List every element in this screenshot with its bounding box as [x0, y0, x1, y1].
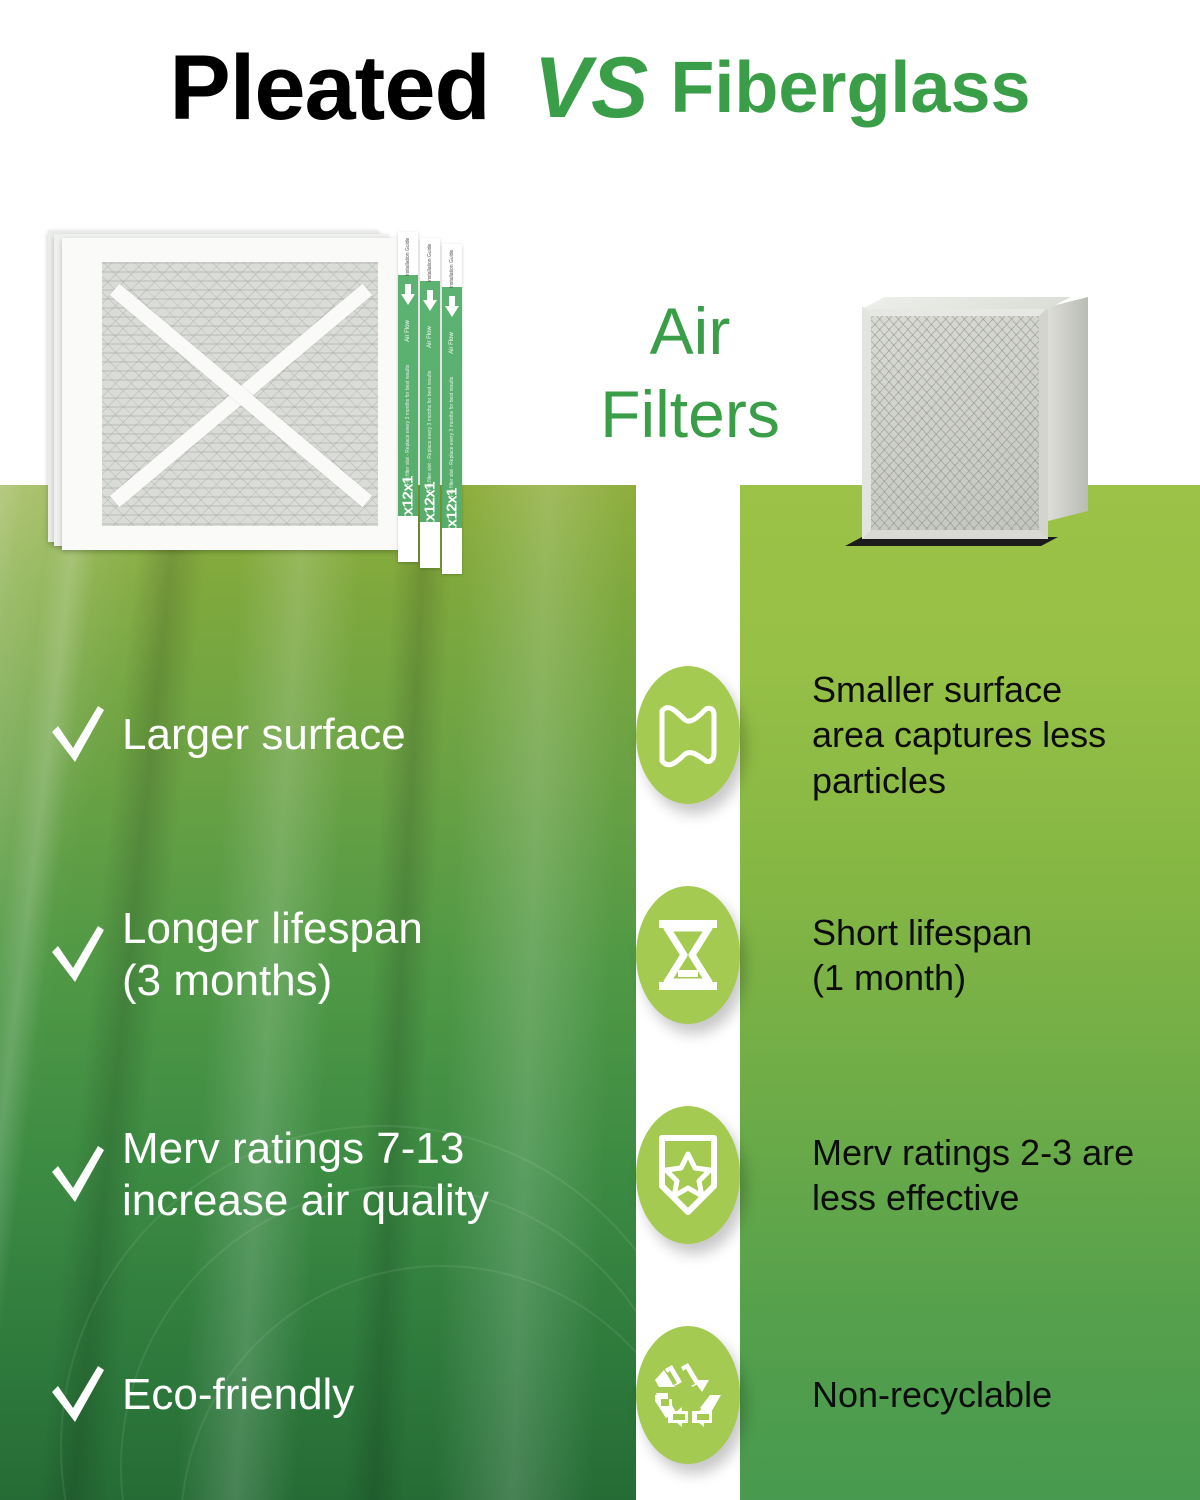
strip-install-label-3: Installation Guide: [449, 250, 455, 289]
airflow-arrow-icon-2: [423, 300, 437, 311]
row-right-line1: Non-recyclable: [812, 1374, 1052, 1415]
row-left-side: Longer lifespan (3 months): [0, 903, 636, 1007]
row-left-line1: Larger surface: [122, 710, 406, 759]
center-heading-line2: Filters: [520, 373, 860, 456]
row-right-side: Smaller surface area captures less parti…: [740, 667, 1200, 803]
page-header: Pleated VS Fiberglass: [0, 0, 1200, 175]
row-right-text: Non-recyclable: [812, 1372, 1200, 1417]
icon-circle: [636, 666, 740, 804]
check-icon: [48, 704, 106, 766]
row-icon-wrap: [636, 1106, 740, 1244]
strip-airflow-label-3: Air Flow: [449, 332, 455, 354]
row-left-line1: Eco-friendly: [122, 1370, 354, 1419]
row-icon-wrap: [636, 1326, 740, 1464]
row-left-line1: Longer lifespan: [122, 904, 423, 953]
center-heading: Air Filters: [520, 290, 860, 455]
strip-airflow-label-1: Air Flow: [405, 320, 411, 342]
row-right-line1: Smaller surface: [812, 669, 1062, 710]
strip-desc-label-2: Fits filter slot - Replace every 3 month…: [427, 371, 433, 492]
check-icon: [48, 1364, 106, 1426]
row-left-line2: (3 months): [122, 955, 423, 1007]
strip-airflow-label-2: Air Flow: [427, 326, 433, 348]
row-right-line2: area captures less: [812, 712, 1200, 757]
comparison-row: Eco-friendly: [0, 1285, 1200, 1500]
row-left-side: Eco-friendly: [0, 1364, 636, 1426]
row-icon-wrap: [636, 666, 740, 804]
title-fiberglass: Fiberglass: [670, 52, 1030, 124]
center-heading-line1: Air: [520, 290, 860, 373]
strip-install-label-2: Installation Guide: [427, 244, 433, 283]
row-left-text: Merv ratings 7-13 increase air quality: [122, 1123, 489, 1227]
row-right-text: Short lifespan (1 month): [812, 910, 1200, 1001]
row-left-text: Larger surface: [122, 709, 406, 761]
row-right-line2: (1 month): [812, 955, 1200, 1000]
row-right-side: Non-recyclable: [740, 1372, 1200, 1417]
strip-desc-label-3: Fits filter slot - Replace every 3 month…: [449, 377, 455, 498]
hourglass-icon: [645, 912, 731, 998]
title-pleated: Pleated: [169, 42, 489, 134]
pleated-surface-icon: [642, 689, 734, 781]
row-left-side: Larger surface: [0, 704, 636, 766]
icon-circle: [636, 1326, 740, 1464]
infographic-page: Pleated VS Fiberglass Air Filters: [0, 0, 1200, 1500]
row-left-side: Merv ratings 7-13 increase air quality: [0, 1123, 636, 1227]
title-vs: VS: [534, 45, 649, 131]
row-left-text: Eco-friendly: [122, 1369, 354, 1421]
row-right-text: Smaller surface area captures less parti…: [812, 667, 1200, 803]
comparison-row: Merv ratings 7-13 increase air quality M…: [0, 1065, 1200, 1285]
fiberglass-top-edge: [862, 297, 1071, 309]
check-icon: [48, 1144, 106, 1206]
strip-desc-label-1: Fits filter slot - Replace every 3 month…: [405, 365, 411, 486]
check-icon: [48, 924, 106, 986]
row-right-line1: Short lifespan: [812, 912, 1032, 953]
row-right-line1: Merv ratings 2-3 are: [812, 1132, 1134, 1173]
comparison-rows: Larger surface Smaller surface area capt…: [0, 485, 1200, 1500]
row-left-line1: Merv ratings 7-13: [122, 1124, 464, 1173]
row-icon-wrap: [636, 886, 740, 1024]
row-right-line3: particles: [812, 758, 1200, 803]
airflow-arrow-icon-3: [445, 306, 459, 317]
badge-star-icon: [645, 1130, 731, 1220]
row-right-line2: less effective: [812, 1175, 1200, 1220]
row-right-side: Merv ratings 2-3 are less effective: [740, 1130, 1200, 1221]
icon-circle: [636, 886, 740, 1024]
row-right-side: Short lifespan (1 month): [740, 910, 1200, 1001]
icon-circle: [636, 1106, 740, 1244]
row-left-line2: increase air quality: [122, 1175, 489, 1227]
comparison-row: Larger surface Smaller surface area capt…: [0, 625, 1200, 845]
recycle-icon: [642, 1349, 734, 1441]
row-left-text: Longer lifespan (3 months): [122, 903, 423, 1007]
airflow-arrow-icon-1: [401, 294, 415, 305]
row-right-text: Merv ratings 2-3 are less effective: [812, 1130, 1200, 1221]
strip-install-label-1: Installation Guide: [405, 238, 411, 277]
comparison-row: Longer lifespan (3 months) Short lifespa…: [0, 845, 1200, 1065]
